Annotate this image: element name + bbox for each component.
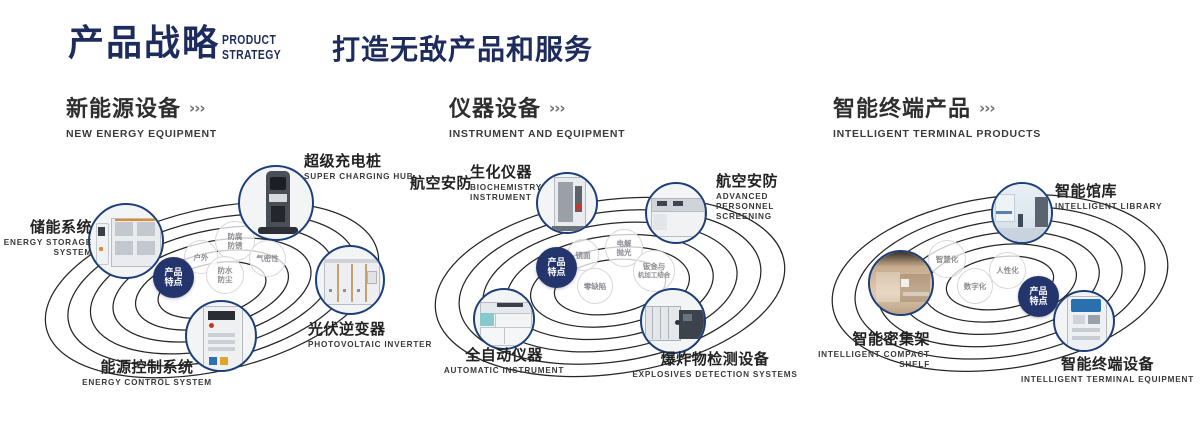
explosives-detector-icon	[642, 290, 704, 352]
section-title-intelligent-terminal: 智能终端产品››› INTELLIGENT TERMINAL PRODUCTS	[833, 95, 1041, 140]
feature-label: 防尘	[218, 275, 233, 284]
center-badge-line2: 特点	[547, 268, 565, 278]
node-label-en: ENERGY STORAGE SYSTEM	[0, 238, 92, 258]
feature-label: 智慧化	[936, 255, 959, 264]
terminal-kiosk-icon	[1055, 292, 1113, 350]
product-strategy-infographic: 产品战略 PRODUCT STRATEGY 打造无敌产品和服务 新能源设备›››…	[0, 0, 1200, 422]
feature-label: 气密性	[256, 254, 279, 263]
node-label-en: ADVANCED PERSONNEL SCREENING	[716, 192, 808, 222]
section-title-cn-text: 智能终端产品	[833, 97, 971, 122]
feature-label: 抛光	[617, 248, 632, 257]
node-label-cn: 超级充电桩	[304, 152, 413, 170]
page-subtitle: 打造无敌产品和服务	[332, 36, 593, 64]
section-title-cn: 新能源设备›››	[66, 95, 217, 123]
section-title-cn-text: 新能源设备	[66, 97, 181, 122]
node-automatic-instrument[interactable]	[473, 288, 535, 350]
node-label-advanced-personnel-screening: 航空安防 ADVANCED PERSONNEL SCREENING	[716, 172, 808, 222]
section-title-instrument: 仪器设备››› INSTRUMENT AND EQUIPMENT	[449, 95, 625, 140]
node-label-cn: 智能密集架	[790, 330, 930, 348]
section-title-cn-text: 仪器设备	[449, 97, 541, 122]
feature-bubble: 防水 防尘	[206, 256, 244, 294]
node-label-intelligent-terminal-equipment: 智能终端设备 INTELLIGENT TERMINAL EQUIPMENT	[1020, 355, 1195, 385]
node-label-en: SUPER CHARGING HUB	[304, 172, 413, 182]
chevron-right-icon: ›››	[189, 95, 205, 121]
page-title-en-line1: PRODUCT	[222, 32, 281, 47]
feature-bubble: 零缺陷	[577, 268, 613, 304]
node-energy-storage-system[interactable]	[88, 203, 164, 279]
node-advanced-personnel-screening[interactable]	[645, 182, 707, 244]
section-title-en: INTELLIGENT TERMINAL PRODUCTS	[833, 128, 1041, 140]
page-title: 产品战略	[68, 26, 220, 62]
node-label-cn: 能源控制系统	[82, 358, 212, 376]
node-label-en: INTELLIGENT COMPACT SHELF	[790, 350, 930, 370]
node-label-aviation-security-left: 航空安防	[410, 174, 472, 192]
feature-label: 机加工结合	[638, 271, 671, 280]
node-label-cn: 生化仪器	[470, 163, 548, 181]
node-label-cn: 全自动仪器	[424, 346, 584, 364]
node-explosives-detection-systems[interactable]	[640, 288, 706, 354]
charging-pile-icon	[240, 167, 312, 239]
node-intelligent-library[interactable]	[991, 182, 1053, 244]
node-label-cn: 智能终端设备	[1020, 355, 1195, 373]
node-label-en: EXPLOSIVES DETECTION SYSTEMS	[620, 370, 810, 380]
center-badge-line2: 特点	[1029, 297, 1047, 307]
screening-machine-icon	[647, 184, 705, 242]
feature-label: 零缺陷	[584, 282, 607, 291]
feature-label: 防水	[218, 266, 233, 275]
page-header: 产品战略 PRODUCT STRATEGY 打造无敌产品和服务	[0, 0, 1200, 90]
feature-label: 防锈	[228, 241, 243, 250]
page-title-en-line2: STRATEGY	[222, 47, 281, 62]
inverter-cabinet-icon	[317, 247, 383, 313]
feature-bubble: 智慧化	[928, 240, 966, 278]
page-title-en: PRODUCT STRATEGY	[222, 32, 281, 62]
feature-label: 电解	[617, 239, 632, 248]
node-super-charging-hub[interactable]	[238, 165, 314, 241]
node-intelligent-compact-shelf[interactable]	[868, 250, 934, 316]
node-label-cn: 航空安防	[410, 174, 472, 192]
feature-label: 人性化	[996, 266, 1019, 275]
node-label-biochemistry-instrument: 生化仪器 BIOCHEMISTRY INSTRUMENT	[470, 163, 548, 203]
node-label-energy-control-system: 能源控制系统 ENERGY CONTROL SYSTEM	[82, 358, 212, 388]
node-label-cn: 爆炸物检测设备	[620, 350, 810, 368]
node-label-energy-storage-system: 储能系统 ENERGY STORAGE SYSTEM	[0, 218, 92, 258]
node-label-cn: 储能系统	[0, 218, 92, 236]
center-badge: 产品 特点	[1018, 276, 1059, 317]
feature-label: 数字化	[964, 282, 987, 291]
feature-bubble: 数字化	[957, 268, 993, 304]
section-title-cn: 仪器设备›››	[449, 95, 625, 123]
node-label-cn: 航空安防	[716, 172, 808, 190]
section-title-cn: 智能终端产品›››	[833, 95, 1041, 123]
node-photovoltaic-inverter[interactable]	[315, 245, 385, 315]
node-label-automatic-instrument: 全自动仪器 AUTOMATIC INSTRUMENT	[424, 346, 584, 376]
feature-bubble: 气密性	[249, 240, 286, 277]
feature-label: 户外	[194, 253, 209, 262]
node-label-en: INTELLIGENT LIBRARY	[1055, 202, 1162, 212]
storage-cabinet-icon	[90, 205, 162, 277]
center-badge-line1: 产品	[1029, 287, 1047, 297]
feature-label: 镜面	[576, 251, 591, 260]
node-label-en: INTELLIGENT TERMINAL EQUIPMENT	[1020, 375, 1195, 385]
feature-label: 钣金与	[643, 262, 666, 271]
chevron-right-icon: ›››	[979, 95, 995, 121]
node-label-en: ENERGY CONTROL SYSTEM	[82, 378, 212, 388]
chevron-right-icon: ›››	[549, 95, 565, 121]
node-label-en: AUTOMATIC INSTRUMENT	[424, 366, 584, 376]
auto-instrument-icon	[475, 290, 533, 348]
node-label-intelligent-compact-shelf: 智能密集架 INTELLIGENT COMPACT SHELF	[790, 330, 930, 370]
center-badge-line1: 产品	[164, 268, 182, 278]
section-title-en: NEW ENERGY EQUIPMENT	[66, 128, 217, 140]
node-label-cn: 智能馆库	[1055, 182, 1162, 200]
center-badge-line1: 产品	[547, 258, 565, 268]
feature-bubble: 人性化	[989, 252, 1026, 289]
node-label-intelligent-library: 智能馆库 INTELLIGENT LIBRARY	[1055, 182, 1162, 212]
library-room-icon	[993, 184, 1051, 242]
feature-bubble: 钣金与 机加工结合	[633, 250, 675, 292]
center-badge-line2: 特点	[164, 278, 182, 288]
section-title-en: INSTRUMENT AND EQUIPMENT	[449, 128, 625, 140]
node-intelligent-terminal-equipment[interactable]	[1053, 290, 1115, 352]
center-badge: 产品 特点	[536, 247, 577, 288]
compact-shelf-icon	[870, 252, 932, 314]
node-label-explosives-detection-systems: 爆炸物检测设备 EXPLOSIVES DETECTION SYSTEMS	[620, 350, 810, 380]
node-label-en: BIOCHEMISTRY INSTRUMENT	[470, 183, 548, 203]
section-title-new-energy: 新能源设备››› NEW ENERGY EQUIPMENT	[66, 95, 217, 140]
node-label-super-charging-hub: 超级充电桩 SUPER CHARGING HUB	[304, 152, 413, 182]
